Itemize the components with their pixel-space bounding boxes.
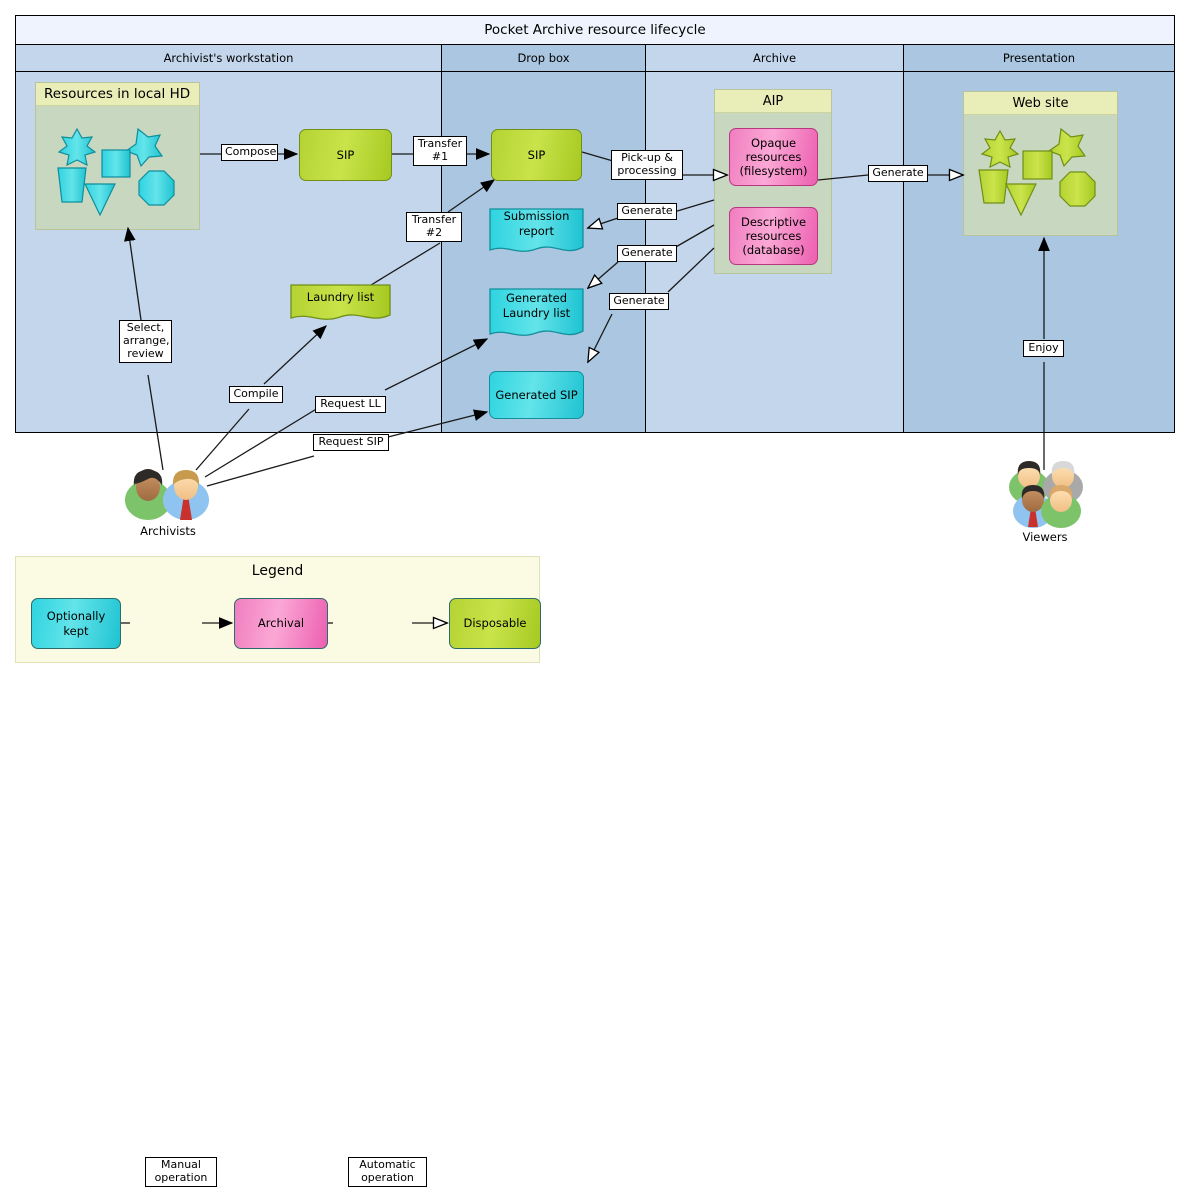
edge-label-generate-sip[interactable]: Generate bbox=[609, 293, 669, 310]
edge-label-pickup[interactable]: Pick-up & processing bbox=[611, 150, 683, 180]
pool-title: Pocket Archive resource lifecycle bbox=[16, 16, 1174, 45]
avatar-viewer-4 bbox=[1041, 485, 1081, 528]
actor-label-viewers: Viewers bbox=[995, 530, 1095, 544]
edge-label-enjoy[interactable]: Enjoy bbox=[1023, 340, 1064, 357]
group-title-website: Web site bbox=[964, 92, 1117, 115]
lane-header-workstation: Archivist's workstation bbox=[16, 45, 441, 72]
node-descriptive-resources[interactable]: Descriptive resources (database) bbox=[729, 207, 818, 265]
actor-label-archivists: Archivists bbox=[118, 524, 218, 538]
lane-header-presentation: Presentation bbox=[904, 45, 1174, 72]
edge-label-compose[interactable]: Compose bbox=[221, 144, 278, 161]
node-sip-dropbox[interactable]: SIP bbox=[491, 129, 582, 181]
group-title-aip: AIP bbox=[715, 90, 831, 113]
avatar-viewer-3 bbox=[1013, 485, 1053, 528]
group-title-resources: Resources in local HD bbox=[36, 83, 199, 106]
legend-panel: Legend Optionally kept Manual operation … bbox=[15, 556, 540, 663]
edge-label-generate-ll[interactable]: Generate bbox=[617, 245, 677, 262]
edge-label-compile[interactable]: Compile bbox=[229, 386, 283, 403]
resource-shapes-cyan bbox=[36, 106, 201, 230]
avatar-viewer-1 bbox=[1009, 461, 1049, 504]
node-laundry-list[interactable]: Laundry list bbox=[290, 284, 391, 324]
node-descriptive-resources-label: Descriptive resources (database) bbox=[741, 215, 806, 257]
node-opaque-resources[interactable]: Opaque resources (filesystem) bbox=[729, 128, 818, 186]
avatar-archivist-2 bbox=[163, 470, 209, 520]
edge-label-generate-site[interactable]: Generate bbox=[868, 165, 928, 182]
legend-label-manual-operation: Manual operation bbox=[145, 1157, 217, 1187]
avatar-viewer-2 bbox=[1043, 461, 1083, 504]
edge-label-transfer-2[interactable]: Transfer #2 bbox=[406, 212, 462, 242]
avatar-archivist-1 bbox=[125, 469, 171, 520]
lane-header-dropbox: Drop box bbox=[442, 45, 645, 72]
node-sip-local[interactable]: SIP bbox=[299, 129, 392, 181]
edge-label-request-ll[interactable]: Request LL bbox=[315, 396, 386, 413]
edge-label-request-sip[interactable]: Request SIP bbox=[313, 434, 389, 451]
node-submission-report[interactable]: Submission report bbox=[489, 208, 584, 257]
legend-label-automatic-operation: Automatic operation bbox=[348, 1157, 427, 1187]
edge-label-select[interactable]: Select, arrange, review bbox=[119, 320, 172, 363]
node-generated-sip[interactable]: Generated SIP bbox=[489, 371, 584, 419]
node-opaque-resources-label: Opaque resources (filesystem) bbox=[739, 136, 807, 178]
group-web-site: Web site bbox=[963, 91, 1118, 236]
legend-edge-layer bbox=[16, 557, 541, 664]
group-resources-in-local-hd: Resources in local HD bbox=[35, 82, 200, 230]
edge-label-generate-report[interactable]: Generate bbox=[617, 203, 677, 220]
edge-label-transfer-1[interactable]: Transfer #1 bbox=[413, 136, 467, 166]
node-generated-laundry-list[interactable]: Generated Laundry list bbox=[489, 288, 584, 341]
lane-header-archive: Archive bbox=[646, 45, 903, 72]
resource-shapes-green bbox=[964, 115, 1119, 237]
